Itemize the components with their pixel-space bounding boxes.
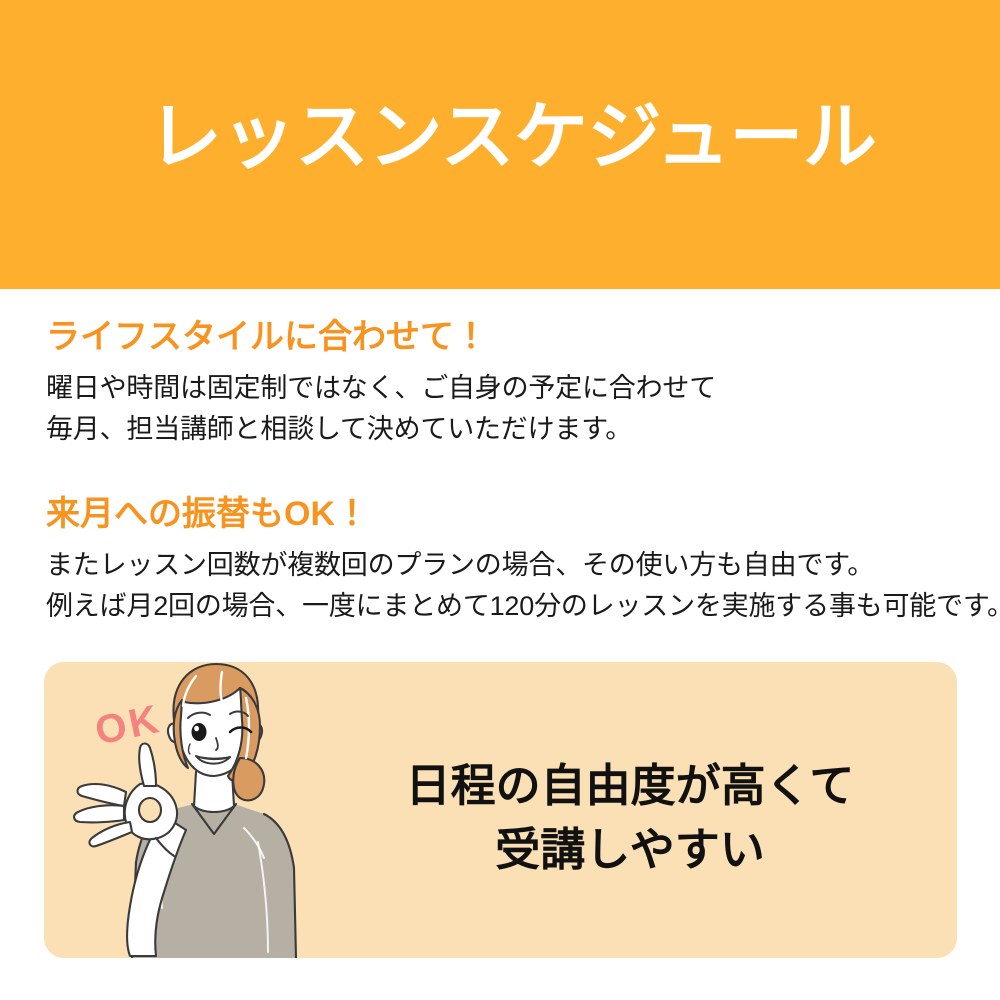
section-heading-lifestyle: ライフスタイルに合わせて！ — [46, 315, 976, 359]
content-area: ライフスタイルに合わせて！ 曜日や時間は固定制ではなく、ご自身の予定に合わせて … — [46, 289, 976, 628]
body-line: またレッスン回数が複数回のプランの場合、その使い方も自由です。 — [46, 545, 976, 586]
header-band: レッスンスケジュール — [0, 0, 1000, 289]
body-line: 曜日や時間は固定制ではなく、ご自身の予定に合わせて — [46, 368, 976, 409]
section-carryover: 来月への振替もOK！ またレッスン回数が複数回のプランの場合、その使い方も自由で… — [46, 450, 976, 627]
section-heading-carryover: 来月への振替もOK！ — [46, 492, 976, 536]
woman-ok-illustration: OK — [44, 662, 384, 958]
body-line: 例えば月2回の場合、一度にまとめて120分のレッスンを実施する事も可能です。 — [46, 586, 976, 627]
body-line: 毎月、担当講師と相談して決めていただけます。 — [46, 409, 976, 450]
section-lifestyle: ライフスタイルに合わせて！ 曜日や時間は固定制ではなく、ご自身の予定に合わせて … — [46, 289, 976, 450]
card-headline: 日程の自由度が高くて 受講しやすい — [370, 754, 890, 882]
page-title: レッスンスケジュール — [148, 96, 876, 179]
card-headline-line: 受講しやすい — [370, 818, 890, 882]
highlight-card: OK 日程の自由度が高くて 受講しやすい — [44, 662, 957, 958]
poster-root: レッスンスケジュール ライフスタイルに合わせて！ 曜日や時間は固定制ではなく、ご… — [0, 0, 1000, 1000]
card-headline-line: 日程の自由度が高くて — [370, 754, 890, 818]
